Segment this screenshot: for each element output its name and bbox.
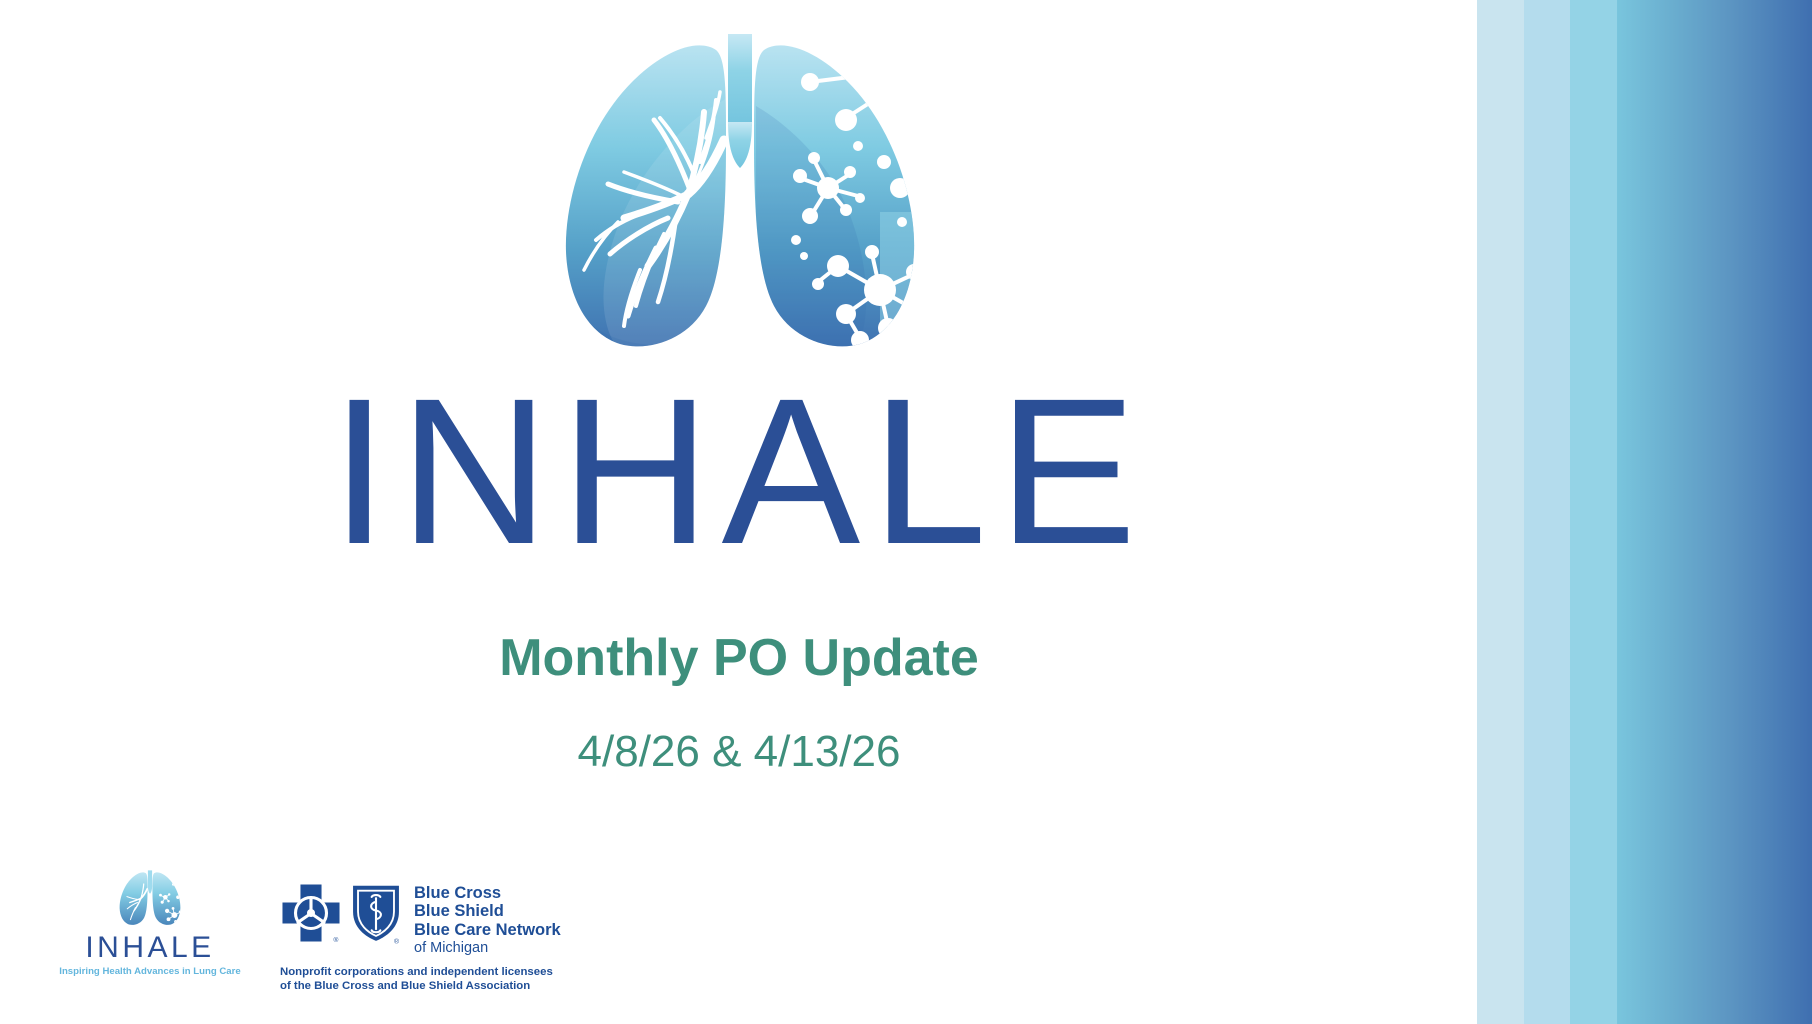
bcbs-name-line-3: Blue Care Network — [414, 921, 561, 939]
footer-logo-lockup: INHALE Inspiring Health Advances in Lung… — [76, 868, 561, 993]
bcbs-disclaimer: Nonprofit corporations and independent l… — [280, 966, 561, 994]
slide-subtitle: Monthly PO Update — [0, 632, 1478, 684]
svg-text:®: ® — [333, 936, 338, 944]
bcbs-footer-logo: ® ® — [280, 882, 561, 993]
slide-date: 4/8/26 & 4/13/26 — [0, 730, 1478, 774]
presentation-slide: INHALE Monthly PO Update 4/8/26 & 4/13/2… — [0, 0, 1812, 1024]
bcbs-logo-row: ® ® — [280, 882, 561, 957]
inhale-footer-tagline: Inspiring Health Advances in Lung Care — [59, 967, 240, 977]
inhale-footer-logo: INHALE Inspiring Health Advances in Lung… — [76, 868, 224, 977]
decorative-stripe-band — [1477, 0, 1812, 1024]
lungs-icon — [113, 868, 187, 930]
blue-shield-icon: ® — [348, 882, 404, 944]
stripe-light-1 — [1477, 0, 1524, 1024]
bcbs-disclaimer-line-2: of the Blue Cross and Blue Shield Associ… — [280, 980, 561, 994]
bcbs-name-block: Blue Cross Blue Shield Blue Care Network… — [414, 882, 561, 957]
page-title: INHALE — [0, 368, 1478, 576]
svg-text:®: ® — [394, 937, 399, 944]
bcbs-name-line-4: of Michigan — [414, 939, 561, 956]
stripe-light-2 — [1524, 0, 1570, 1024]
inhale-footer-wordmark: INHALE — [85, 933, 214, 963]
lungs-icon — [528, 22, 952, 374]
stripe-light-3 — [1570, 0, 1617, 1024]
blue-cross-icon: ® — [280, 882, 342, 944]
stripe-gradient — [1617, 0, 1812, 1024]
bcbs-name-line-1: Blue Cross — [414, 884, 561, 902]
bcbs-disclaimer-line-1: Nonprofit corporations and independent l… — [280, 966, 561, 980]
bcbs-name-line-2: Blue Shield — [414, 902, 561, 920]
